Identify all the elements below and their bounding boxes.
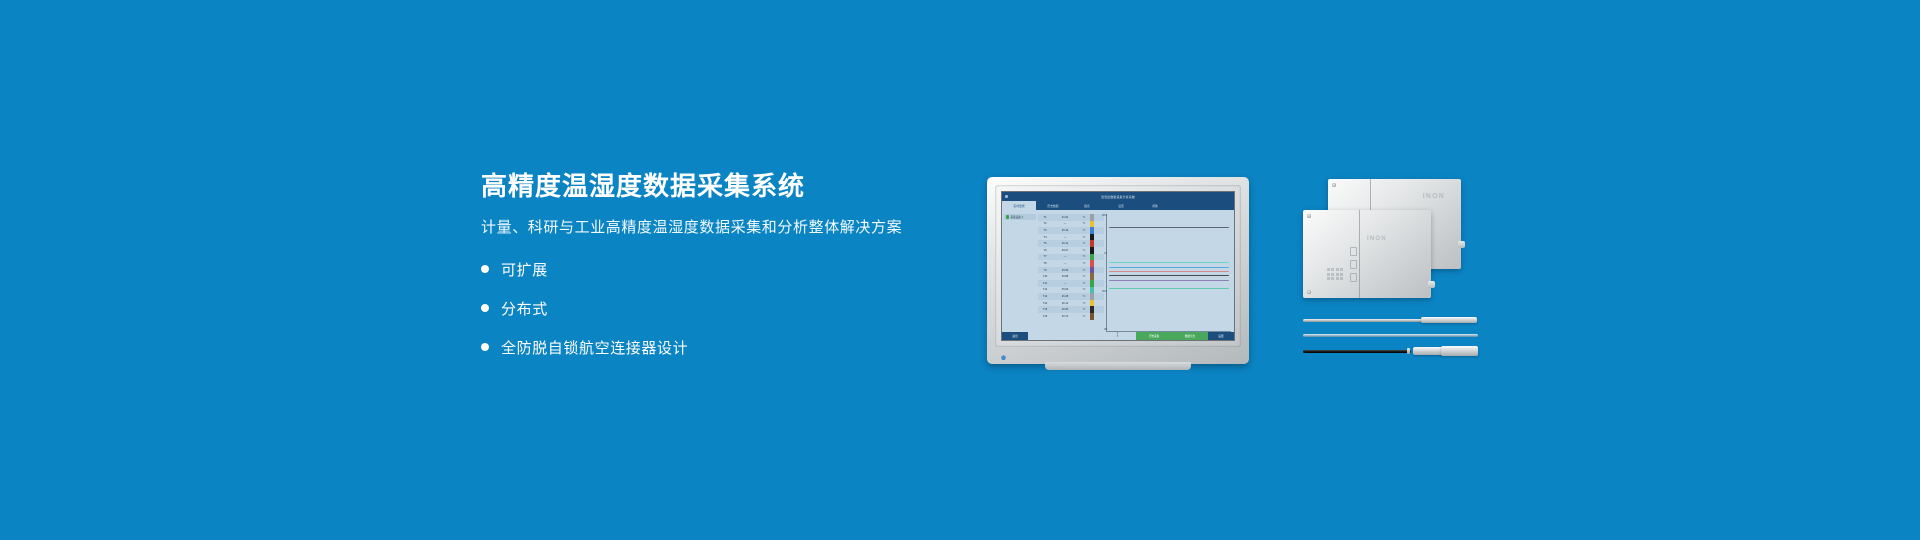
channel-unit: ℃ [1078,275,1090,278]
chart-trace [1109,288,1228,289]
enclosure-brand-label: INON [1367,236,1387,242]
monitor-bezel: 温湿度数据采集分析系统 实时监测 历史数据 报表 设置 帮助 [995,185,1241,347]
feature-label: 分布式 [501,298,548,319]
chart-trace [1109,275,1228,276]
channel-unit: ℃ [1078,249,1090,252]
y-tick: 28.0 [1098,214,1107,217]
channel-id: T7 [1038,255,1052,258]
page-title: 高精度温湿度数据采集系统 [481,172,951,201]
table-row: T8 — ℃ [1038,260,1104,267]
series-color-chip [1090,214,1094,221]
channel-value: — [1052,222,1078,225]
connector-marking [1350,247,1357,282]
channel-unit: ℃ [1078,236,1090,239]
channel-value: 25.90 [1052,288,1078,291]
channel-value: — [1052,255,1078,258]
channel-id: T11 [1038,282,1052,285]
table-row: T16 26.74 ℃ [1038,313,1104,320]
channel-id: T15 [1038,308,1052,311]
table-row: T4 — ℃ [1038,234,1104,241]
series-color-chip [1090,293,1094,300]
table-row: T14 26.11 ℃ [1038,300,1104,307]
channel-unit: ℃ [1078,222,1090,225]
channel-id: T8 [1038,262,1052,265]
y-tick: 27 [1098,252,1107,255]
channel-value: — [1052,282,1078,285]
software-title: 温湿度数据采集分析系统 [1101,195,1135,199]
channel-id: T6 [1038,249,1052,252]
channel-unit: ℃ [1078,242,1090,245]
channel-id: T12 [1038,288,1052,291]
product-image-enclosures: INON INON [1303,175,1471,305]
list-item: 全防脱自锁航空连接器设计 [481,337,951,358]
bullet-dot-icon [481,304,489,312]
hero-banner: 高精度温湿度数据采集系统 计量、科研与工业高精度温湿度数据采集和分析整体解决方案… [0,0,1920,540]
channel-value: — [1052,236,1078,239]
table-row: T13 26.28 ℃ [1038,293,1104,300]
channel-value: 26.12 [1052,242,1078,245]
enclosure-box-front: INON [1303,210,1431,298]
channel-unit: ℃ [1078,216,1090,219]
series-color-chip [1090,280,1094,287]
series-color-chip [1090,227,1094,234]
table-row: T5 26.12 ℃ [1038,240,1104,247]
channel-unit: ℃ [1078,315,1090,318]
channel-unit: ℃ [1078,282,1090,285]
channel-unit: ℃ [1078,255,1090,258]
channel-id: T5 [1038,242,1052,245]
channel-value: — [1052,262,1078,265]
table-row: T12 25.90 ℃ [1038,287,1104,294]
tab-help[interactable]: 帮助 [1138,201,1172,210]
series-color-chip [1090,254,1094,261]
series-color-chip [1090,267,1094,274]
table-row: T6 26.07 ℃ [1038,247,1104,254]
table-row: T7 — ℃ [1038,254,1104,261]
label-grid-marking [1327,268,1343,280]
page-subtitle: 计量、科研与工业高精度温湿度数据采集和分析整体解决方案 [481,219,951,237]
trend-chart: 28.0 27 26.0 25 [1106,214,1231,332]
chart-trace [1109,262,1228,263]
device-sidebar: 采集设备 1 [1002,210,1038,332]
table-row: T2 — ℃ [1038,221,1104,228]
series-color-chip [1090,306,1094,313]
channel-value: 26.74 [1052,315,1078,318]
channel-value: 26.19 [1052,229,1078,232]
channel-value: 21.81 [1052,216,1078,219]
channel-unit: ℃ [1078,295,1090,298]
channel-id: T13 [1038,295,1052,298]
channel-id: T9 [1038,269,1052,272]
tab-realtime[interactable]: 实时监测 [1002,201,1036,210]
series-color-chip [1090,313,1094,320]
feature-list: 可扩展 分布式 全防脱自锁航空连接器设计 [481,259,951,358]
tabbar-filler [1172,201,1234,210]
channel-id: T10 [1038,275,1052,278]
channel-id: T4 [1038,236,1052,239]
list-item: 分布式 [481,298,951,319]
monitor-screen-frame: 温湿度数据采集分析系统 实时监测 历史数据 报表 设置 帮助 [1001,191,1235,341]
settings-button[interactable]: 设置 [1208,332,1234,340]
chart-trace [1109,267,1228,268]
software-titlebar: 温湿度数据采集分析系统 [1002,192,1234,201]
channel-value: 26.96 [1052,269,1078,272]
software-body: 采集设备 1 T1 21.81 ℃ [1002,210,1234,332]
channel-id: T1 [1038,216,1052,219]
tab-settings[interactable]: 设置 [1104,201,1138,210]
table-row: T9 26.96 ℃ [1038,267,1104,274]
series-color-chip [1090,273,1094,280]
monitor-stand [1045,362,1192,370]
channel-unit: ℃ [1078,269,1090,272]
tab-history[interactable]: 历史数据 [1036,201,1070,210]
channel-table: T1 21.81 ℃ T2 — ℃ [1038,210,1104,332]
channel-value: 26.28 [1052,295,1078,298]
series-color-chip [1090,300,1094,307]
channel-value: 26.07 [1052,249,1078,252]
enclosure-brand-label: INON [1423,193,1445,200]
table-row: T15 26.90 ℃ [1038,306,1104,313]
series-color-chip [1090,234,1094,241]
y-tick: 25 [1098,328,1107,331]
channel-value: 26.11 [1052,302,1078,305]
exit-button[interactable]: 退出 [1002,332,1028,340]
series-color-chip [1090,260,1094,267]
chart-trace [1109,227,1228,228]
channel-id: T14 [1038,302,1052,305]
tab-report[interactable]: 报表 [1070,201,1104,210]
bullet-dot-icon [481,265,489,273]
chart-trace [1109,280,1228,281]
monitor-brand-logo-icon [1001,355,1006,360]
export-data-button[interactable]: 数据导出 [1172,332,1208,340]
product-image-probes [1303,316,1478,366]
y-tick: 26.0 [1098,290,1107,293]
banner-copy: 高精度温湿度数据采集系统 计量、科研与工业高精度温湿度数据采集和分析整体解决方案… [481,172,951,376]
table-row: T11 — ℃ [1038,280,1104,287]
sidebar-item-label: 采集设备 1 [1011,215,1024,219]
channel-value: 26.90 [1052,308,1078,311]
table-row: T3 26.19 ℃ [1038,227,1104,234]
app-icon [1005,195,1008,198]
chart-trace [1109,271,1228,272]
chart-y-axis: 28.0 27 26.0 25 [1098,214,1107,331]
series-color-chip [1090,287,1094,294]
channel-value: 26.88 [1052,275,1078,278]
series-color-chip [1090,221,1094,228]
software-footer: 退出 开始采集 数据导出 设置 [1002,332,1234,340]
software-tabbar: 实时监测 历史数据 报表 设置 帮助 [1002,201,1234,210]
channel-unit: ℃ [1078,302,1090,305]
list-item: 可扩展 [481,259,951,280]
series-color-chip [1090,240,1094,247]
bullet-dot-icon [481,343,489,351]
software-screen: 温湿度数据采集分析系统 实时监测 历史数据 报表 设置 帮助 [1002,192,1234,340]
channel-id: T2 [1038,222,1052,225]
monitor-chassis: 温湿度数据采集分析系统 实时监测 历史数据 报表 设置 帮助 [987,177,1249,364]
channel-unit: ℃ [1078,288,1090,291]
feature-label: 全防脱自锁航空连接器设计 [501,337,688,358]
series-color-chip [1090,247,1094,254]
start-acquisition-button[interactable]: 开始采集 [1136,332,1172,340]
sidebar-item-device[interactable]: 采集设备 1 [1004,214,1036,220]
table-row: T1 21.81 ℃ [1038,214,1104,221]
device-online-icon [1006,215,1010,219]
table-row: T10 26.88 ℃ [1038,273,1104,280]
footer-spacer [1028,332,1136,340]
channel-unit: ℃ [1078,262,1090,265]
channel-id: T3 [1038,229,1052,232]
channel-unit: ℃ [1078,308,1090,311]
channel-unit: ℃ [1078,229,1090,232]
product-image-monitor: 温湿度数据采集分析系统 实时监测 历史数据 报表 设置 帮助 [987,177,1249,364]
feature-label: 可扩展 [501,259,548,280]
channel-id: T16 [1038,315,1052,318]
